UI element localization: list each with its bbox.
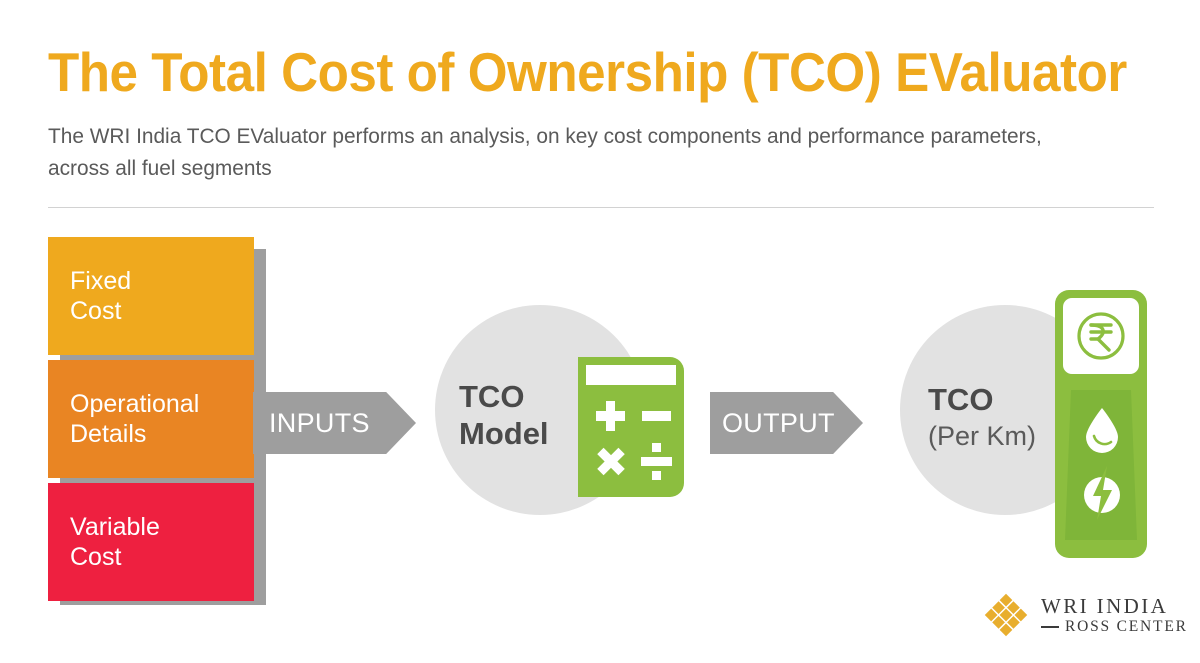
logo-line-1: WRI INDIA <box>1041 594 1168 619</box>
output-arrow: OUTPUT <box>710 392 863 454</box>
fuel-pump-icon <box>1055 290 1147 558</box>
divide-icon <box>641 457 672 466</box>
input-box-variable-cost[interactable]: Variable Cost <box>48 483 254 601</box>
divide-icon-dot-bottom <box>652 471 661 480</box>
tco-model-label: TCO Model <box>459 378 549 452</box>
input-box-operational-details-label: Operational Details <box>70 389 254 449</box>
input-box-fixed-cost[interactable]: Fixed Cost <box>48 237 254 355</box>
tco-output-sublabel: (Per Km) <box>928 420 1036 452</box>
infographic-canvas: The Total Cost of Ownership (TCO) EValua… <box>0 0 1200 663</box>
inputs-arrow: INPUTS <box>253 392 416 454</box>
input-box-variable-cost-label: Variable Cost <box>70 512 254 572</box>
fuel-droplet-icon <box>1082 406 1122 454</box>
rupee-icon <box>1075 310 1127 362</box>
divide-icon-dot-top <box>652 443 661 452</box>
minus-icon <box>642 411 671 421</box>
calculator-screen <box>586 365 676 385</box>
wri-india-logo[interactable]: WRI INDIA ROSS CENTER <box>983 592 1183 640</box>
page-title: The Total Cost of Ownership (TCO) EValua… <box>48 42 1080 102</box>
calculator-icon <box>578 357 684 497</box>
inputs-arrow-label: INPUTS <box>269 408 370 439</box>
electric-bolt-icon <box>1081 464 1123 522</box>
logo-dash <box>1041 626 1059 628</box>
header-divider <box>48 207 1154 208</box>
wri-diamond-lattice-icon <box>983 592 1029 638</box>
input-box-operational-details[interactable]: Operational Details <box>48 360 254 478</box>
logo-line-2: ROSS CENTER <box>1065 618 1188 636</box>
plus-icon-bar <box>596 411 625 421</box>
page-subtitle: The WRI India TCO EValuator performs an … <box>48 120 1086 184</box>
input-box-fixed-cost-label: Fixed Cost <box>70 266 254 326</box>
output-arrow-label: OUTPUT <box>722 408 835 439</box>
tco-output-label: TCO <box>928 382 993 418</box>
